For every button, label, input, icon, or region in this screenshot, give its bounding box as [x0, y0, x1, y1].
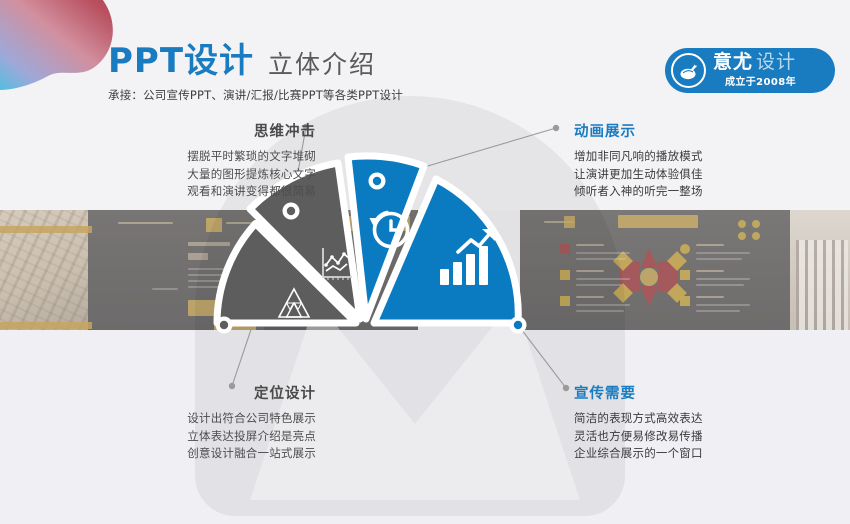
info-title-dingwei: 定位设计: [84, 382, 316, 403]
slide-canvas: PPT设计 立体介绍 承接：公司宣传PPT、演讲/汇报/比赛PPT等各类PPT设…: [0, 0, 850, 524]
info-line: 观看和演讲变得都很简易: [84, 183, 316, 201]
info-line: 企业综合展示的一个窗口: [574, 445, 814, 463]
info-title-siwei: 思维冲击: [84, 120, 316, 141]
info-block-siwei: 思维冲击 摆脱平时繁琐的文字堆砌 大量的图形提炼核心文字 观看和演讲变得都很简易: [84, 120, 316, 201]
info-line: 设计出符合公司特色展示: [84, 410, 316, 428]
info-line: 立体表达投屏介绍是亮点: [84, 428, 316, 446]
info-block-donghua: 动画展示 增加非同凡响的播放模式 让演讲更加生动体验俱佳 倾听者入神的听完一整场: [574, 120, 814, 201]
info-line: 增加非同凡响的播放模式: [574, 148, 814, 166]
info-line: 创意设计融合一站式展示: [84, 445, 316, 463]
info-line: 灵活也方便易修改易传播: [574, 428, 814, 446]
info-title-xuanchuan: 宣传需要: [574, 382, 814, 403]
info-line: 让演讲更加生动体验俱佳: [574, 166, 814, 184]
info-title-donghua: 动画展示: [574, 120, 814, 141]
info-block-xuanchuan: 宣传需要 简洁的表现方式高效表达 灵活也方便易修改易传播 企业综合展示的一个窗口: [574, 382, 814, 463]
info-line: 摆脱平时繁琐的文字堆砌: [84, 148, 316, 166]
info-block-dingwei: 定位设计 设计出符合公司特色展示 立体表达投屏介绍是亮点 创意设计融合一站式展示: [84, 382, 316, 463]
info-line: 大量的图形提炼核心文字: [84, 166, 316, 184]
info-line: 简洁的表现方式高效表达: [574, 410, 814, 428]
info-line: 倾听者入神的听完一整场: [574, 183, 814, 201]
